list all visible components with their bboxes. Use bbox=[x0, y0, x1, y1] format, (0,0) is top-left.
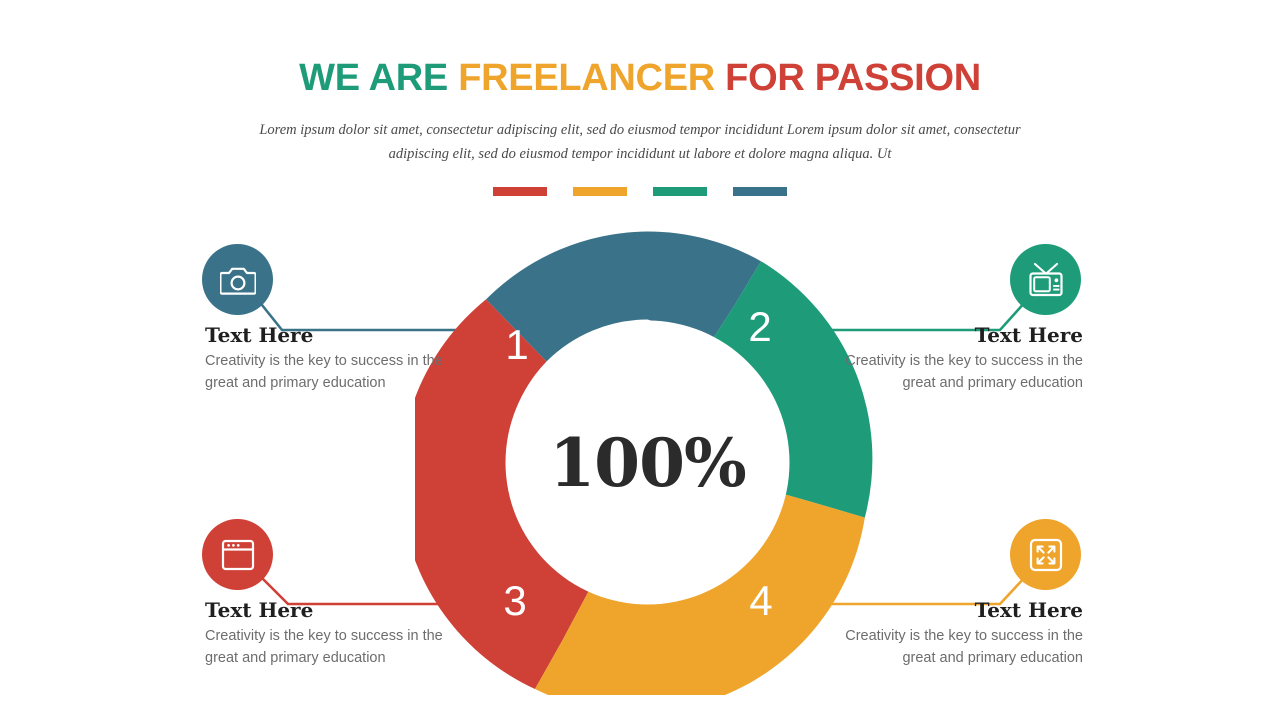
item-body-3: Creativity is the key to success in the … bbox=[205, 626, 445, 669]
item-heading-3: Text Here bbox=[205, 597, 445, 623]
item-heading-4: Text Here bbox=[843, 597, 1083, 623]
item-body-1: Creativity is the key to success in the … bbox=[205, 351, 445, 394]
item-heading-2: Text Here bbox=[843, 322, 1083, 348]
icon-bubble-4[interactable] bbox=[1010, 519, 1081, 590]
title-part-2: FREELANCER bbox=[458, 57, 725, 99]
bar-amber bbox=[573, 187, 627, 196]
item-block-4: Text Here Creativity is the key to succe… bbox=[843, 597, 1083, 669]
bar-red bbox=[493, 187, 547, 196]
title-part-1: WE ARE bbox=[299, 57, 458, 99]
icon-bubble-1[interactable] bbox=[202, 244, 273, 315]
item-body-2: Creativity is the key to success in the … bbox=[843, 351, 1083, 394]
browser-window-icon bbox=[221, 539, 255, 571]
color-bar-row bbox=[0, 187, 1280, 196]
bar-blue bbox=[733, 187, 787, 196]
donut-chart: 1 2 3 4 100% bbox=[415, 230, 880, 695]
item-heading-1: Text Here bbox=[205, 322, 445, 348]
item-block-3: Text Here Creativity is the key to succe… bbox=[205, 597, 445, 669]
page-title: WE ARE FREELANCER FOR PASSION bbox=[0, 56, 1280, 100]
page-subtitle: Lorem ipsum dolor sit amet, consectetur … bbox=[240, 118, 1040, 166]
television-icon bbox=[1027, 262, 1065, 298]
icon-bubble-2[interactable] bbox=[1010, 244, 1081, 315]
item-block-2: Text Here Creativity is the key to succe… bbox=[843, 322, 1083, 394]
slide-canvas: WE ARE FREELANCER FOR PASSION Lorem ipsu… bbox=[0, 0, 1280, 720]
bar-teal bbox=[653, 187, 707, 196]
title-part-3: FOR PASSION bbox=[725, 57, 981, 99]
item-body-4: Creativity is the key to success in the … bbox=[843, 626, 1083, 669]
item-block-1: Text Here Creativity is the key to succe… bbox=[205, 322, 445, 394]
expand-icon bbox=[1029, 538, 1063, 572]
icon-bubble-3[interactable] bbox=[202, 519, 273, 590]
camera-icon bbox=[220, 264, 256, 296]
donut-center-label: 100% bbox=[415, 230, 880, 695]
